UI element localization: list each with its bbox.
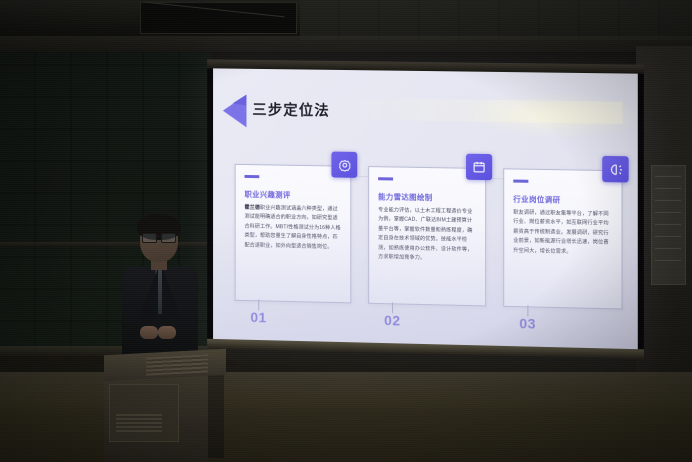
ceiling-beam xyxy=(0,36,692,52)
glasses-icon xyxy=(142,233,176,241)
lectern-side xyxy=(208,374,224,458)
projector-glare xyxy=(466,94,638,139)
projection-screen-frame: 三步定位法 职业兴趣测评 霍兰德职业兴趣测试涵盖六种类型，通过测试能明确适合的职… xyxy=(207,59,644,359)
gear-icon xyxy=(331,152,357,178)
lectern-vent xyxy=(116,414,162,432)
classroom-scene: 三步定位法 职业兴趣测评 霍兰德职业兴趣测试涵盖六种类型，通过测试能明确适合的职… xyxy=(0,0,692,462)
card-accent-dash xyxy=(513,180,528,183)
card-accent-dash xyxy=(245,175,260,178)
presenter-hand-right xyxy=(158,326,176,339)
lightbulb-icon xyxy=(602,156,628,183)
open-ceiling-panel xyxy=(140,2,297,34)
card-heading-1: 职业兴趣测评 xyxy=(245,189,291,201)
card-body-lead-1: 霍兰德 xyxy=(245,205,260,211)
chevron-arrow-mark-icon xyxy=(221,94,249,127)
card-accent-dash xyxy=(378,177,393,180)
presenter-hand-left xyxy=(140,326,158,339)
projection-screen[interactable]: 三步定位法 职业兴趣测评 霍兰德职业兴趣测试涵盖六种类型，通过测试能明确适合的职… xyxy=(213,68,638,349)
ceiling-tiles xyxy=(300,0,692,40)
lectern-panel xyxy=(109,384,179,442)
presenter xyxy=(118,218,210,358)
calendar-box-icon xyxy=(466,154,492,180)
lectern xyxy=(104,352,226,462)
slide-title: 三步定位法 xyxy=(252,99,330,121)
card-heading-2: 能力雷达图绘制 xyxy=(378,191,432,203)
wall-poster xyxy=(651,165,686,285)
card-heading-3: 行业岗位调研 xyxy=(513,194,560,206)
screen-lower-shade xyxy=(213,217,638,349)
speaker-grille xyxy=(146,354,208,375)
